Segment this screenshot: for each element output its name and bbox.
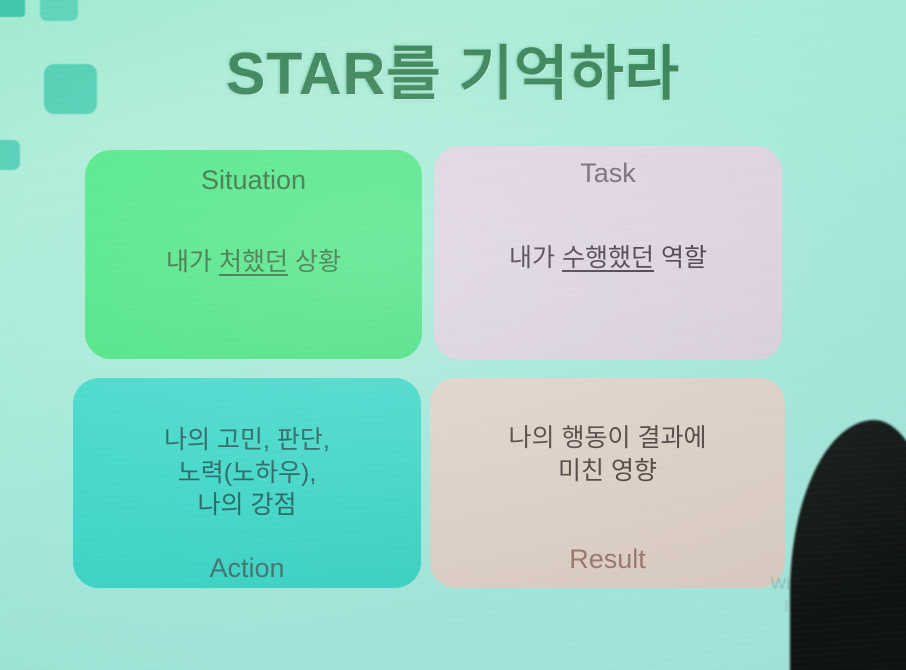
quadrant-heading-result: Result [569,545,646,575]
quadrant-body-result: 나의 행동이 결과에 미친 영향 [509,422,707,487]
quadrant-body-situation: 내가 처했던 상황 [166,246,341,279]
decorative-square-icon [0,140,20,170]
slide-title: STAR를 기억하라 [0,26,906,111]
presentation-slide: STAR를 기억하라 Situation 내가 처했던 상황 Task 내가 수… [0,0,906,670]
decorative-square-icon [0,0,25,17]
quadrant-heading-action: Action [209,554,284,584]
quadrant-body-situation-highlight: 처했던 [219,248,288,276]
decorative-square-icon [40,0,78,21]
quadrant-card-result: 나의 행동이 결과에 미친 영향 Result [430,378,785,588]
quadrant-heading-task: Task [580,159,636,189]
quadrant-body-situation-suffix: 상황 [288,248,341,276]
quadrant-body-task: 내가 수행했던 역할 [509,242,707,275]
quadrant-card-task: Task 내가 수행했던 역할 [434,146,782,360]
quadrant-body-action: 나의 고민, 판단, 노력(노하우), 나의 강점 [164,424,330,522]
quadrant-body-task-highlight: 수행했던 [562,244,654,272]
audience-head-silhouette [790,420,906,670]
quadrant-body-task-prefix: 내가 [509,244,562,272]
quadrant-heading-situation: Situation [201,166,306,196]
quadrant-card-action: 나의 고민, 판단, 노력(노하우), 나의 강점 Action [73,378,421,588]
quadrant-body-task-suffix: 역할 [654,244,707,272]
quadrant-card-situation: Situation 내가 처했던 상황 [85,150,422,359]
quadrant-body-situation-prefix: 내가 [166,248,219,276]
